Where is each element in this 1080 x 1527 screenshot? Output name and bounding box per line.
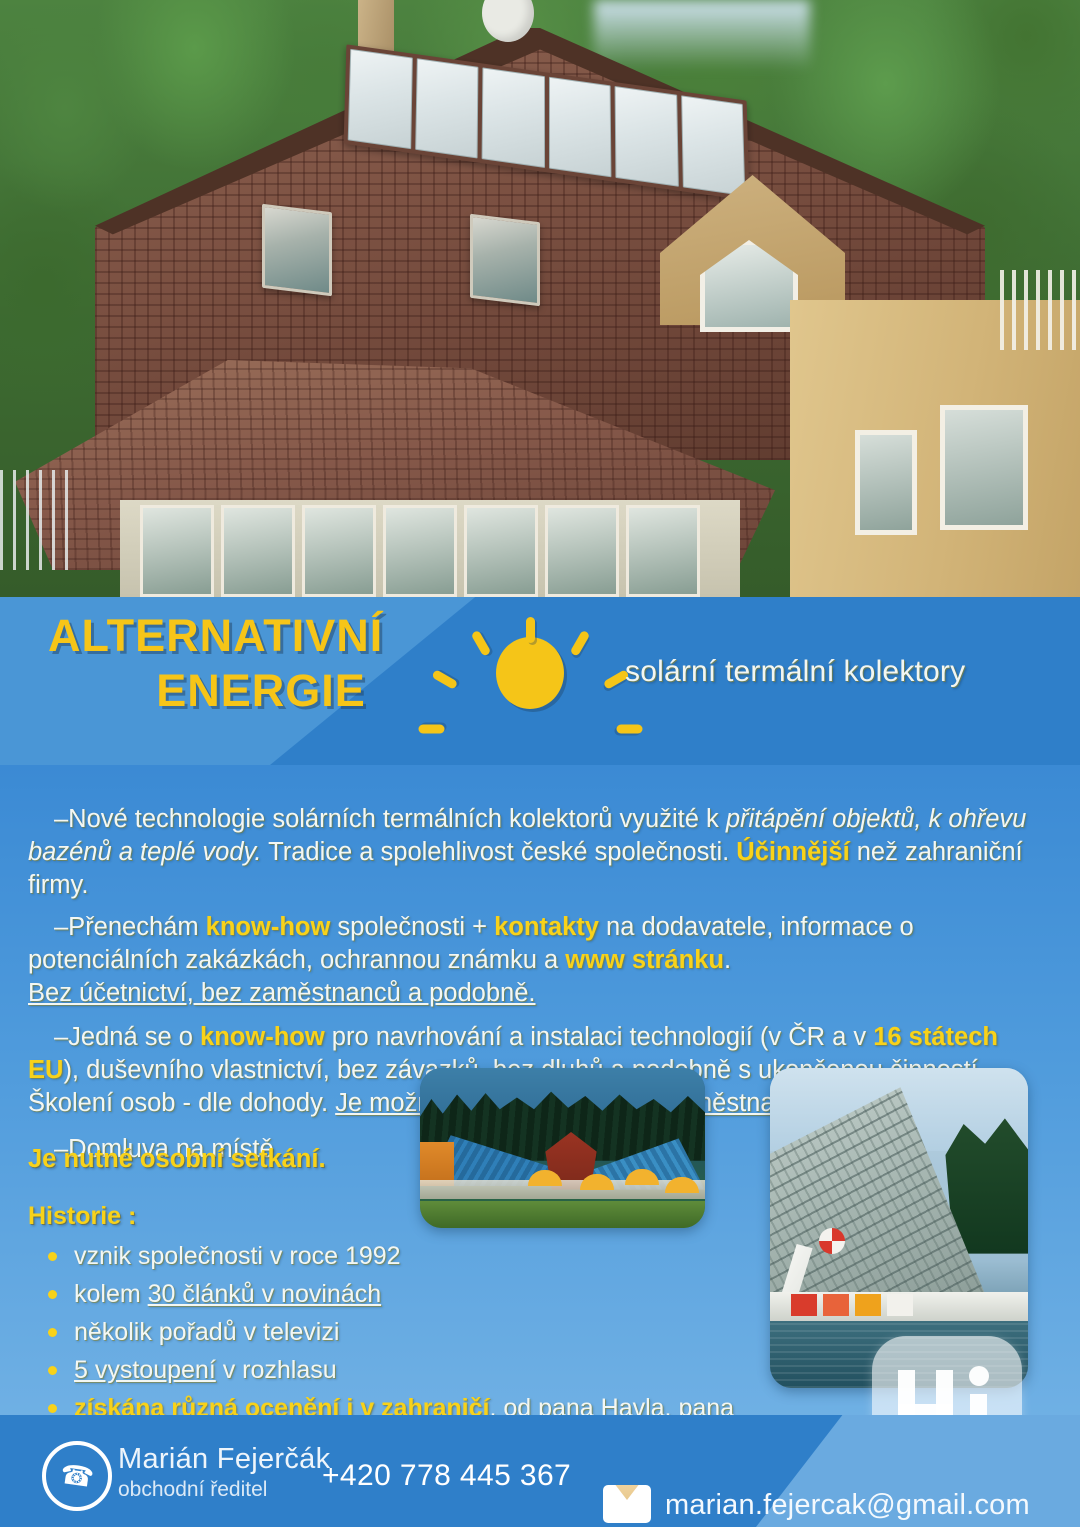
- lodge-terrace: [420, 1180, 705, 1199]
- hero-photo-house-with-solar-collectors: [0, 0, 1080, 597]
- phone-handset-glyph: ☎: [58, 1457, 96, 1495]
- title-line-1: ALTERNATIVNÍ: [48, 609, 468, 664]
- banner-subtitle: solární termální kolektory: [625, 655, 965, 689]
- sun-icon: [455, 612, 605, 734]
- list-item: několik pořadů v televizi: [74, 1313, 764, 1351]
- list-item: kolem 30 článků v novinách: [74, 1275, 764, 1313]
- emphasis-meeting-required: Je nutné osobní setkání.: [28, 1145, 326, 1174]
- contact-name: Marián Fejerčák: [118, 1443, 330, 1476]
- contact-role: obchodní ředitel: [118, 1478, 267, 1502]
- page-title: ALTERNATIVNÍ ENERGIE: [48, 609, 468, 719]
- list-item: 5 vystoupení v rozhlasu: [74, 1351, 764, 1389]
- lodge-lawn: [420, 1201, 705, 1228]
- life-ring-icon: [819, 1228, 845, 1254]
- flyer-page: ALTERNATIVNÍ ENERGIE solární termální ko…: [0, 0, 1080, 1527]
- balcony-railing: [1000, 270, 1080, 350]
- footer-contact-bar: ☎ Marián Fejerčák obchodní ředitel +420 …: [0, 1415, 1080, 1527]
- phone-icon: ☎: [42, 1441, 112, 1511]
- house-window-b: [855, 430, 917, 535]
- roof-skylight-left: [262, 204, 332, 297]
- list-item: vznik společnosti v roce 1992: [74, 1237, 764, 1275]
- envelope-icon: [603, 1485, 651, 1523]
- contact-phone[interactable]: +420 778 445 367: [322, 1459, 571, 1493]
- conservatory-glazing: [140, 505, 700, 597]
- roof-skylight-right: [470, 214, 540, 307]
- garden-fence: [0, 470, 75, 570]
- contact-email[interactable]: marian.fejercak@gmail.com: [665, 1489, 1030, 1522]
- sky-patch: [594, 0, 810, 70]
- sun-core: [496, 637, 564, 709]
- paragraph-1: –Nové technologie solárních termálních k…: [28, 803, 1053, 902]
- house-window-a: [940, 405, 1028, 530]
- list-item: získána různá ocenění i v zahraničí, od …: [74, 1389, 764, 1415]
- paragraph-2: –Přenechám know-how společnosti + kontak…: [28, 911, 1053, 1010]
- title-line-2: ENERGIE: [48, 664, 468, 719]
- pool-signage: [791, 1294, 913, 1316]
- history-heading: Historie :: [28, 1202, 136, 1231]
- history-list: vznik společnosti v roce 1992kolem 30 čl…: [32, 1237, 764, 1415]
- inset-photo-lodge: [420, 1068, 705, 1228]
